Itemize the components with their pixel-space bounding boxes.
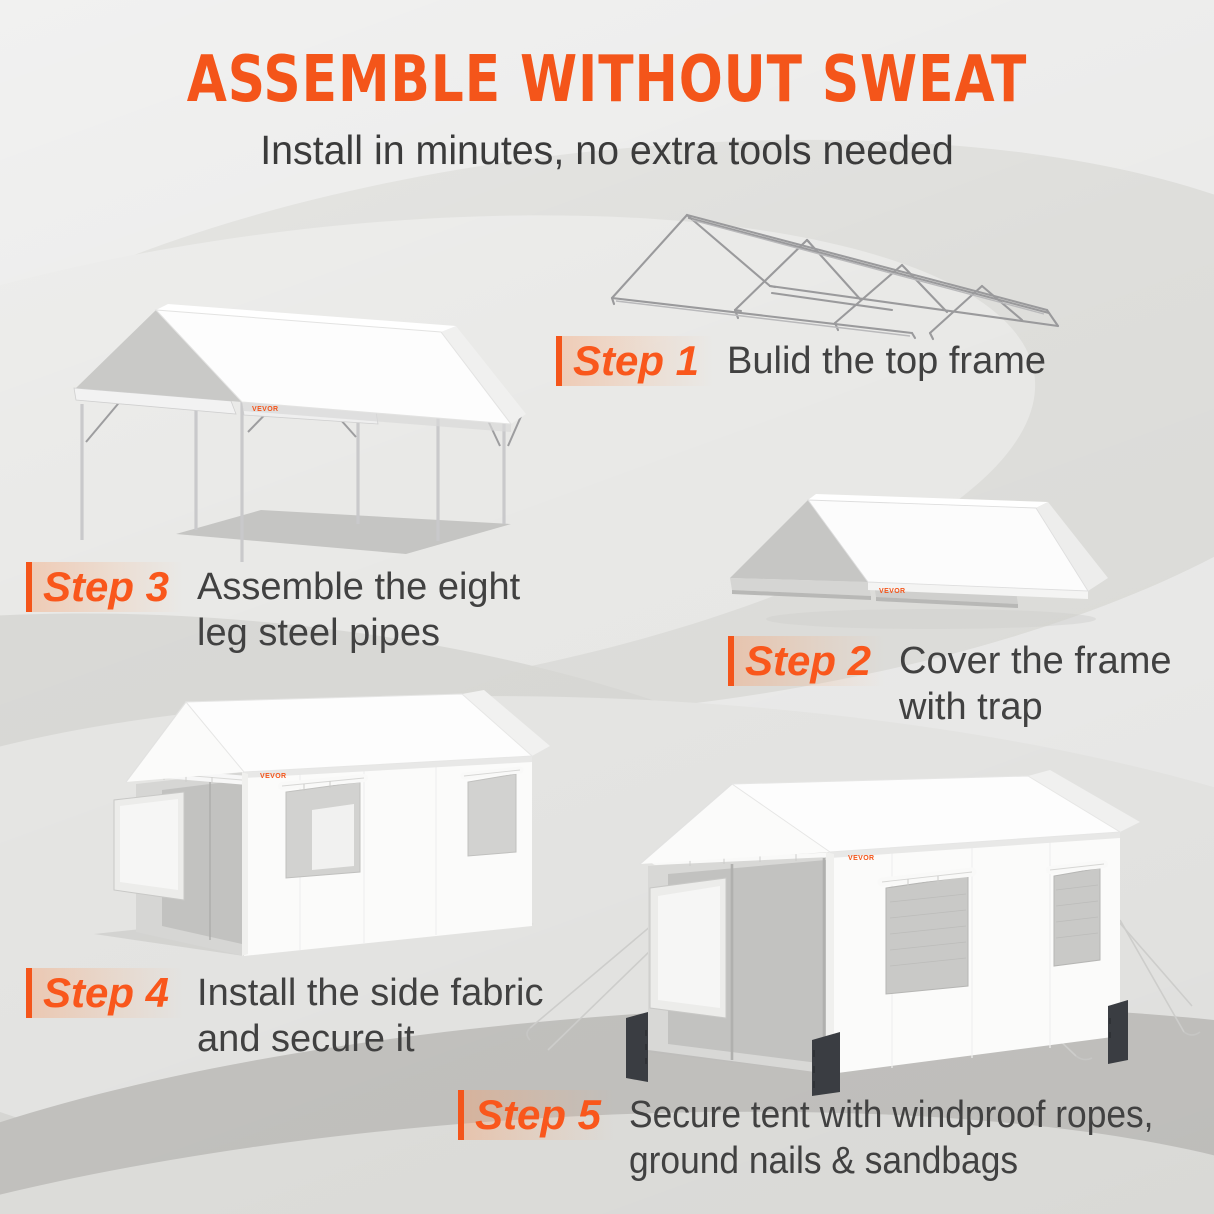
vevor-logo: VEVOR [260,773,287,780]
step-3-number: Step 3 [43,562,177,612]
step-1-label: Step 1 Bulid the top frame [556,336,1046,386]
step-1-number: Step 1 [573,336,707,386]
sandbag-left [626,1012,648,1082]
step-2-description: Cover the frame with trap [899,638,1171,730]
infographic-page: ASSEMBLE WITHOUT SWEAT Install in minute… [0,0,1214,1214]
step-4-badge: Step 4 [26,968,183,1018]
page-subtitle: Install in minutes, no extra tools neede… [24,112,1189,171]
illustration-carport-with-sidewalls: VEVOR [64,694,564,994]
page-title: ASSEMBLE WITHOUT SWEAT [61,0,1154,112]
step-5-accent-bar [458,1090,464,1140]
vevor-logo: VEVOR [848,855,875,862]
vevor-logo: VEVOR [252,406,279,413]
step-3-description: Assemble the eight leg steel pipes [197,564,520,656]
step-2-accent-bar [728,636,734,686]
step-5-label: Step 5 Secure tent with windproof ropes,… [458,1090,1193,1184]
step-4-description: Install the side fabric and secure it [197,970,543,1062]
sandbag-right [1108,1000,1128,1064]
step-1-badge: Step 1 [556,336,713,386]
step-5-description: Secure tent with windproof ropes, ground… [629,1092,1154,1184]
step-4-accent-bar [26,968,32,1018]
step-5-badge: Step 5 [458,1090,615,1140]
vevor-logo: VEVOR [879,588,906,595]
step-3-badge: Step 3 [26,562,183,612]
step-1-description: Bulid the top frame [727,338,1046,384]
step-2-label: Step 2 Cover the frame with trap [728,636,1172,730]
step-4-label: Step 4 Install the side fabric and secur… [26,968,543,1062]
step-2-badge: Step 2 [728,636,885,686]
illustration-carport-with-ropes-and-sandbags: VEVOR [520,778,1210,1098]
header: ASSEMBLE WITHOUT SWEAT Install in minute… [0,0,1214,171]
illustration-canopy-roof-covered: VEVOR [716,486,1126,631]
sandbag-center [812,1032,840,1096]
step-4-number: Step 4 [43,968,177,1018]
step-2-number: Step 2 [745,636,879,686]
illustration-roof-frame-skeleton [592,198,1062,348]
step-1-accent-bar [556,336,562,386]
step-3-label: Step 3 Assemble the eight leg steel pipe… [26,562,520,656]
step-3-accent-bar [26,562,32,612]
illustration-carport-on-legs: VEVOR [56,296,546,571]
step-5-number: Step 5 [475,1090,609,1140]
